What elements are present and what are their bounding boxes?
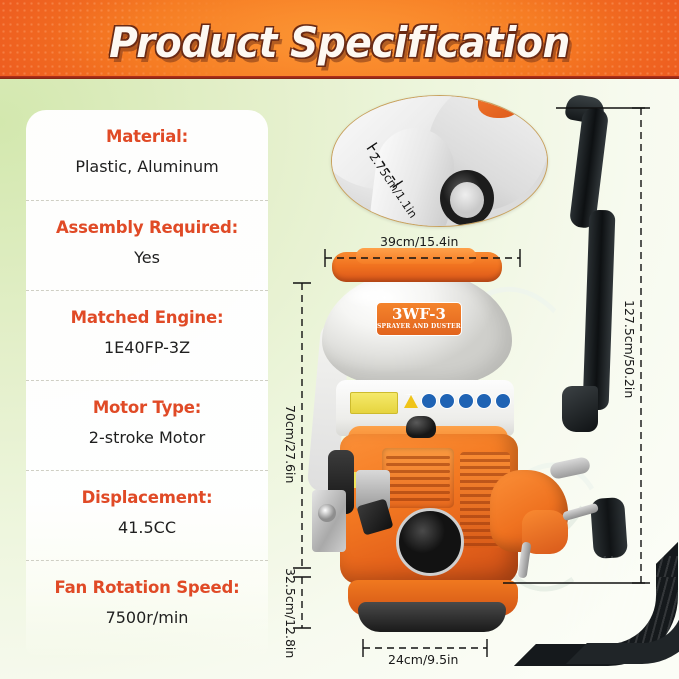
spec-row-matched-engine: Matched Engine: 1E40FP-3Z [26, 290, 268, 380]
dimension-body-height: 70cm/27.6in [283, 405, 298, 483]
inset-orange-accent [478, 95, 520, 118]
dimension-total-height: 127.5cm/50.2in [622, 300, 637, 398]
specification-card: Material: Plastic, Aluminum Assembly Req… [26, 110, 268, 655]
badge-model-text: 3WF-3 [392, 307, 446, 322]
spec-value: 7500r/min [26, 603, 268, 633]
read-manual-icon [421, 393, 437, 409]
dimension-top-width: 39cm/15.4in [380, 234, 458, 249]
cylinder-fin [386, 463, 450, 466]
bracket-bolt [318, 504, 336, 522]
spec-label: Motor Type: [26, 393, 268, 423]
spec-value: Yes [26, 243, 268, 273]
cylinder-fin [386, 477, 450, 480]
spec-label: Assembly Required: [26, 213, 268, 243]
blower-handle [562, 386, 598, 432]
magnified-detail-inset [331, 95, 548, 227]
dimension-base-height: 32.5cm/12.8in [283, 568, 298, 658]
page-title: Product Specification [24, 18, 655, 67]
spec-row-assembly-required: Assembly Required: Yes [26, 200, 268, 290]
air-filter-cover [406, 416, 436, 438]
spec-label: Material: [26, 122, 268, 152]
spec-value: 41.5CC [26, 513, 268, 543]
product-specification-page: Product Specification Material: Plastic,… [0, 0, 679, 679]
spec-row-fan-rotation-speed: Fan Rotation Speed: 7500r/min [26, 560, 268, 650]
spec-row-displacement: Displacement: 41.5CC [26, 470, 268, 560]
no-smoking-icon [495, 393, 511, 409]
starter-pulley [396, 508, 464, 576]
hose-corrugation [566, 556, 679, 664]
cylinder-fin [386, 484, 450, 487]
inset-knob-inner [450, 182, 484, 218]
ear-protection-icon [458, 393, 474, 409]
cylinder-fin [386, 470, 450, 473]
warning-decal [350, 392, 398, 414]
specification-list: Material: Plastic, Aluminum Assembly Req… [26, 110, 268, 650]
tank-cap [356, 248, 476, 264]
badge-subtitle-text: SPRAYER AND DUSTER [377, 322, 461, 331]
cylinder-fin [386, 456, 450, 459]
spec-value: 1E40FP-3Z [26, 333, 268, 363]
cylinder-fin [386, 491, 450, 494]
model-badge: 3WF-3 SPRAYER AND DUSTER [376, 302, 462, 336]
cylinder-fin [386, 498, 450, 501]
spec-label: Fan Rotation Speed: [26, 573, 268, 603]
blower-tube-middle [583, 210, 616, 411]
spec-value: Plastic, Aluminum [26, 152, 268, 182]
safety-pictogram-row [404, 393, 511, 409]
corrugated-blower-hose [514, 520, 664, 626]
eye-protection-icon [439, 393, 455, 409]
spec-row-material: Material: Plastic, Aluminum [26, 110, 268, 200]
spec-value: 2-stroke Motor [26, 423, 268, 453]
base-foot-pad [358, 602, 506, 632]
spec-label: Displacement: [26, 483, 268, 513]
spec-row-motor-type: Motor Type: 2-stroke Motor [26, 380, 268, 470]
respirator-icon [476, 393, 492, 409]
banner-bottom-border [0, 76, 679, 79]
warning-triangle-icon [404, 394, 418, 408]
spec-label: Matched Engine: [26, 303, 268, 333]
dimension-base-width: 24cm/9.5in [388, 652, 458, 667]
